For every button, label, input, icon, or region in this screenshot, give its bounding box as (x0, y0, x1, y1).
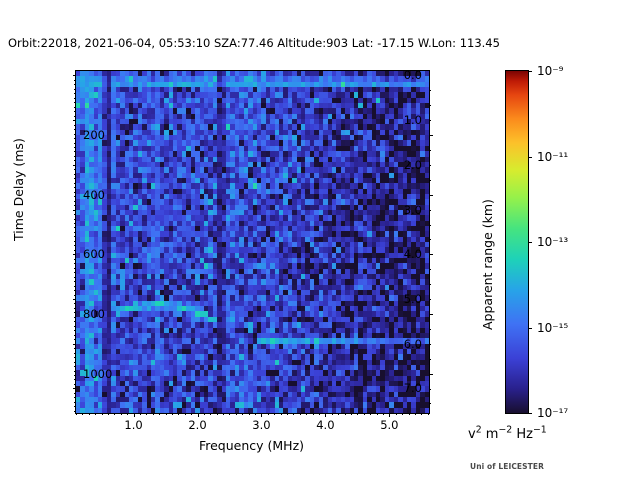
axis-tick (74, 80, 76, 81)
axis-tick (74, 259, 76, 260)
axis-tick (74, 402, 76, 403)
axis-tick (332, 413, 333, 415)
axis-tick (108, 413, 109, 415)
axis-tick (429, 314, 433, 315)
axis-tick (429, 120, 431, 121)
axis-tick (74, 223, 76, 224)
axis-tick (377, 413, 378, 415)
axis-tick (429, 105, 431, 106)
axis-tick (74, 129, 76, 130)
axis-tick (370, 413, 371, 415)
axis-tick (74, 357, 76, 358)
axis-tick (74, 227, 76, 228)
axis-tick (73, 388, 77, 389)
axis-tick (429, 225, 431, 226)
axis-tick (74, 339, 76, 340)
secondary-y-tick-label: 200 (83, 128, 105, 142)
institution-credit: Uni of LEICESTER (470, 462, 544, 471)
axis-tick (185, 413, 186, 415)
axis-tick (153, 413, 154, 415)
colorbar: 10⁻¹⁷10⁻¹⁵10⁻¹³10⁻¹¹10⁻⁹ (505, 70, 529, 414)
axis-tick (74, 169, 76, 170)
plot-title: Orbit:22018, 2021-06-04, 05:53:10 SZA:77… (8, 36, 500, 50)
axis-tick (383, 413, 384, 415)
axis-tick (313, 413, 314, 415)
axis-tick (89, 413, 90, 415)
axis-tick (249, 413, 250, 415)
axis-tick (229, 413, 230, 415)
axis-tick (121, 413, 122, 415)
axis-tick (74, 241, 76, 242)
axis-tick (325, 413, 326, 417)
axis-tick (74, 147, 76, 148)
axis-tick (74, 196, 76, 197)
axis-tick (429, 299, 431, 300)
axis-tick (287, 413, 288, 415)
axis-tick (74, 384, 76, 385)
axis-tick (74, 205, 76, 206)
axis-tick (281, 413, 282, 415)
x-axis-label: Frequency (MHz) (75, 438, 428, 453)
colorbar-tick (528, 328, 532, 329)
y-tick-label: 6.0 (404, 337, 422, 351)
axis-tick (74, 277, 76, 278)
axis-tick (74, 353, 76, 354)
axis-tick (306, 413, 307, 415)
secondary-y-tick-label: 600 (83, 247, 105, 261)
axis-tick (166, 413, 167, 415)
axis-tick (74, 295, 76, 296)
x-tick-label: 5.0 (380, 418, 398, 432)
axis-tick (429, 389, 431, 390)
axis-tick (127, 413, 128, 415)
axis-tick (319, 413, 320, 415)
axis-tick (428, 413, 429, 415)
axis-tick (178, 413, 179, 415)
axis-tick (351, 413, 352, 415)
axis-tick (74, 250, 76, 251)
axis-tick (74, 397, 76, 398)
axis-tick (429, 165, 431, 166)
axis-tick (429, 135, 433, 136)
axis-tick (102, 413, 103, 415)
axis-tick (338, 413, 339, 415)
axis-tick (74, 317, 76, 318)
axis-tick (114, 413, 115, 415)
axis-tick (74, 134, 76, 135)
y-tick-label: 0.0 (404, 68, 422, 82)
axis-tick (415, 413, 416, 415)
axis-tick (429, 210, 431, 211)
axis-tick (429, 195, 433, 196)
axis-tick (242, 413, 243, 415)
axis-tick (74, 321, 76, 322)
axis-tick (95, 413, 96, 415)
axis-tick (74, 268, 76, 269)
axis-tick (429, 344, 431, 345)
axis-tick (74, 379, 76, 380)
x-tick-label: 2.0 (188, 418, 206, 432)
y-tick-label: 5.0 (404, 292, 422, 306)
y-tick-label: 2.0 (404, 158, 422, 172)
axis-tick (82, 413, 83, 415)
axis-tick (74, 183, 76, 184)
colorbar-tick (528, 157, 532, 158)
axis-tick (74, 362, 76, 363)
axis-tick (429, 329, 431, 330)
axis-tick (429, 150, 431, 151)
axis-tick (429, 359, 431, 360)
axis-tick (74, 303, 76, 304)
axis-tick (74, 308, 76, 309)
axis-tick (74, 245, 76, 246)
axis-tick (76, 413, 77, 415)
axis-tick (74, 102, 76, 103)
axis-tick (74, 290, 76, 291)
axis-tick (74, 160, 76, 161)
ionogram-heatmap (76, 71, 429, 413)
axis-tick (429, 403, 431, 404)
colorbar-tick-label: 10⁻⁹ (537, 64, 563, 78)
x-tick-label: 3.0 (252, 418, 270, 432)
axis-tick (73, 120, 77, 121)
axis-tick (236, 413, 237, 415)
axis-tick (429, 284, 431, 285)
axis-tick (429, 239, 431, 240)
axis-tick (74, 178, 76, 179)
axis-tick (74, 107, 76, 108)
x-tick-label: 4.0 (316, 418, 334, 432)
axis-tick (74, 201, 76, 202)
colorbar-tick (528, 242, 532, 243)
axis-tick (268, 413, 269, 415)
axis-tick (74, 312, 76, 313)
axis-tick (73, 210, 77, 211)
axis-tick (429, 180, 431, 181)
axis-tick (159, 413, 160, 415)
axis-tick (217, 413, 218, 415)
axis-tick (421, 413, 422, 415)
axis-tick (74, 326, 76, 327)
axis-tick (74, 263, 76, 264)
secondary-y-tick-label: 800 (83, 307, 105, 321)
axis-tick (223, 413, 224, 415)
axis-tick (300, 413, 301, 415)
axis-tick (74, 125, 76, 126)
axis-tick (409, 413, 410, 415)
axis-tick (73, 344, 77, 345)
axis-tick (429, 269, 431, 270)
axis-tick (74, 232, 76, 233)
axis-tick (74, 84, 76, 85)
axis-tick (74, 219, 76, 220)
axis-tick (396, 413, 397, 415)
colorbar-tick-label: 10⁻¹⁵ (537, 321, 568, 335)
axis-tick (74, 406, 76, 407)
colorbar-tick-label: 10⁻¹¹ (537, 150, 568, 164)
axis-tick (255, 413, 256, 415)
axis-tick (74, 151, 76, 152)
secondary-y-tick-label: 1000 (83, 367, 112, 381)
axis-tick (146, 413, 147, 415)
axis-tick (198, 413, 199, 417)
axis-tick (293, 413, 294, 415)
axis-tick (74, 93, 76, 94)
secondary-y-tick-label: 400 (83, 188, 105, 202)
ionogram-axes: 0.01.02.03.04.05.06.07.02004006008001000… (75, 70, 430, 414)
colorbar-units-label: v2 m−2 Hz−1 (468, 427, 547, 442)
axis-tick (364, 413, 365, 415)
axis-tick (274, 413, 275, 415)
y-tick-label: 7.0 (404, 381, 422, 395)
axis-tick (73, 254, 77, 255)
axis-tick (74, 236, 76, 237)
axis-tick (74, 111, 76, 112)
y-tick-label: 3.0 (404, 203, 422, 217)
axis-tick (389, 413, 390, 417)
axis-tick (74, 192, 76, 193)
axis-tick (74, 116, 76, 117)
axis-tick (74, 393, 76, 394)
axis-tick (429, 90, 431, 91)
axis-tick (134, 413, 135, 417)
axis-tick (345, 413, 346, 415)
axis-tick (74, 330, 76, 331)
colorbar-gradient (506, 71, 528, 413)
axis-tick (172, 413, 173, 415)
axis-tick (357, 413, 358, 415)
y-tick-label: 4.0 (404, 247, 422, 261)
axis-tick (74, 335, 76, 336)
colorbar-tick (528, 71, 532, 72)
axis-tick (73, 165, 77, 166)
axis-tick (74, 187, 76, 188)
axis-tick (74, 371, 76, 372)
y-axis-label: Time Delay (ms) (11, 138, 26, 241)
colorbar-tick-label: 10⁻¹³ (537, 235, 568, 249)
axis-tick (74, 138, 76, 139)
axis-tick (73, 299, 77, 300)
axis-tick (74, 214, 76, 215)
y-tick-label: 1.0 (404, 113, 422, 127)
axis-tick (73, 75, 77, 76)
axis-tick (74, 156, 76, 157)
axis-tick (74, 143, 76, 144)
colorbar-tick (528, 413, 532, 414)
axis-tick (74, 98, 76, 99)
axis-tick (191, 413, 192, 415)
axis-tick (429, 374, 433, 375)
axis-tick (210, 413, 211, 415)
axis-tick (74, 348, 76, 349)
axis-tick (74, 174, 76, 175)
axis-tick (74, 272, 76, 273)
colorbar-tick-label: 10⁻¹⁷ (537, 406, 568, 420)
axis-tick (74, 286, 76, 287)
axis-tick (261, 413, 262, 417)
axis-tick (204, 413, 205, 415)
axis-tick (74, 366, 76, 367)
axis-tick (402, 413, 403, 415)
axis-tick (74, 89, 76, 90)
axis-tick (74, 281, 76, 282)
x-tick-label: 1.0 (124, 418, 142, 432)
secondary-y-axis-label: Apparent range (km) (480, 199, 495, 330)
axis-tick (140, 413, 141, 415)
axis-tick (74, 411, 76, 412)
axis-tick (429, 254, 433, 255)
axis-tick (74, 375, 76, 376)
